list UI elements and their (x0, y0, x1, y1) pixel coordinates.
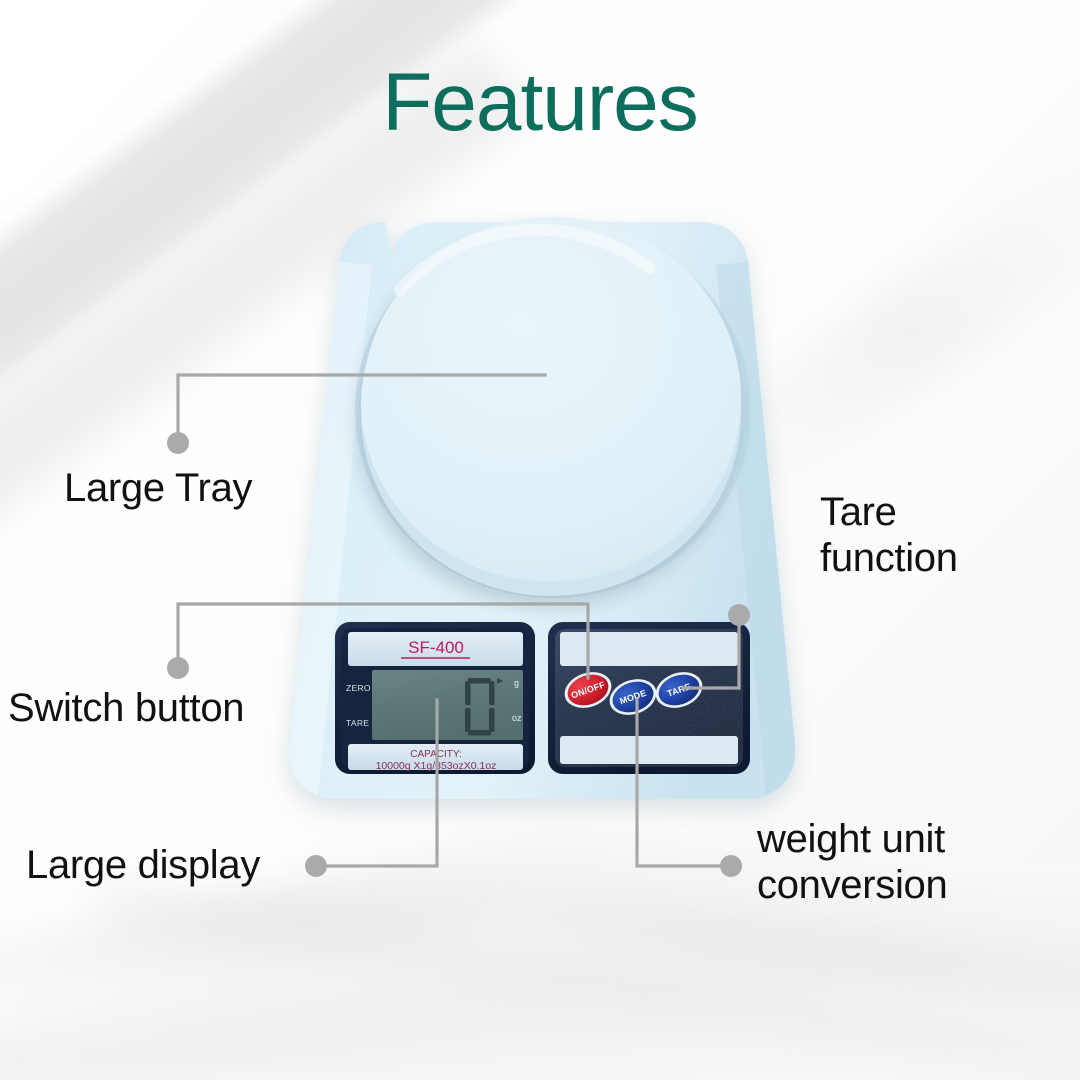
page-title: Features (0, 56, 1080, 150)
callout-line-tare-function (683, 619, 739, 688)
callout-dot-large-display[interactable] (305, 855, 327, 877)
callout-dot-weight-conversion[interactable] (720, 855, 742, 877)
callout-dot-switch-button[interactable] (167, 657, 189, 679)
callout-label-large-display: Large display (26, 843, 260, 889)
callout-label-switch-button: Switch button (8, 686, 244, 732)
callout-line-switch-button (178, 604, 588, 678)
callout-dot-large-tray[interactable] (167, 432, 189, 454)
callout-label-large-tray: Large Tray (64, 466, 252, 512)
callout-label-tare-function: Tare function (820, 490, 958, 581)
callout-dot-tare-function[interactable] (728, 604, 750, 626)
callout-line-weight-conversion (637, 700, 727, 866)
callout-label-weight-conversion: weight unit conversion (757, 817, 947, 908)
callout-line-large-display (320, 700, 437, 866)
callout-line-large-tray (178, 375, 545, 440)
